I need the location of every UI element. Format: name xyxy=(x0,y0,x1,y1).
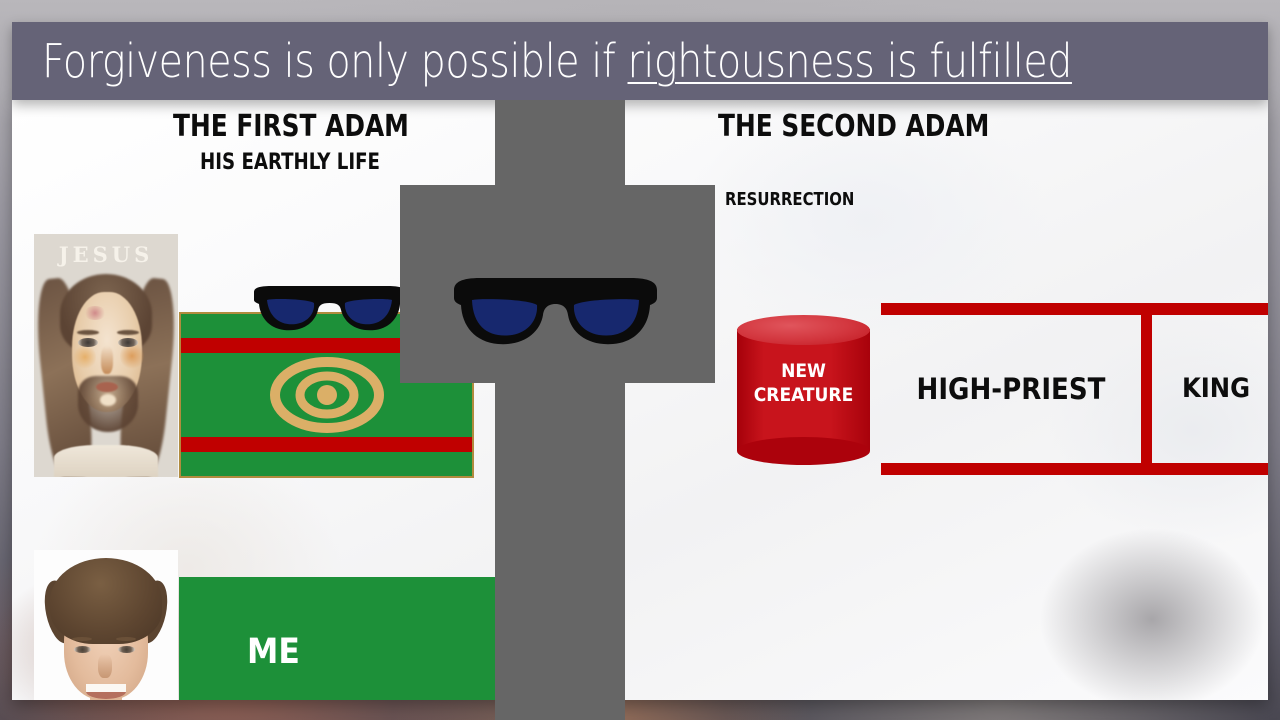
me-label: ME xyxy=(247,632,300,672)
eye-icon xyxy=(268,356,386,434)
slide-canvas: JESUS NEW CREATURE xyxy=(12,100,1268,700)
red-stripe-top xyxy=(181,338,472,353)
jesus-face-illustration xyxy=(34,234,178,477)
first-adam-heading: THE FIRST ADAM xyxy=(173,109,409,144)
sunglasses-icon-small xyxy=(251,286,408,334)
cylinder-top xyxy=(737,315,870,345)
new-creature-line2: CREATURE xyxy=(737,383,870,407)
cylinder-bottom xyxy=(737,437,870,465)
high-priest-label: HIGH-PRIEST xyxy=(917,371,1106,407)
me-portrait-image xyxy=(34,550,178,700)
king-label: KING xyxy=(1182,371,1250,407)
cylinder-icon-new-creature: NEW CREATURE xyxy=(737,315,870,465)
red-stripe-bottom xyxy=(181,437,472,452)
me-face-illustration xyxy=(34,550,178,700)
earthly-life-green-bar xyxy=(179,312,474,478)
me-green-bar: ME xyxy=(179,577,505,700)
new-creature-label: NEW CREATURE xyxy=(737,359,870,407)
roles-group: HIGH-PRIEST KING xyxy=(881,303,1268,475)
second-adam-heading: THE SECOND ADAM xyxy=(718,109,989,144)
jesus-portrait-image: JESUS xyxy=(34,234,178,477)
high-priest-box: HIGH-PRIEST xyxy=(881,303,1141,475)
title-underlined-phrase: rightousness is fulfilled xyxy=(628,34,1072,88)
slide-title-bar: Forgiveness is only possible if rightous… xyxy=(12,22,1268,100)
resurrection-label: RESURRECTION xyxy=(725,189,854,210)
new-creature-line1: NEW xyxy=(737,359,870,383)
king-box: KING xyxy=(1141,303,1268,475)
jesus-image-label: JESUS xyxy=(34,242,178,267)
title-prefix: Forgiveness is only possible if xyxy=(42,34,628,88)
earthly-life-subheading: HIS EARTHLY LIFE xyxy=(200,150,380,175)
page-title: Forgiveness is only possible if rightous… xyxy=(42,34,1072,88)
presentation-stage: Forgiveness is only possible if rightous… xyxy=(0,0,1280,720)
